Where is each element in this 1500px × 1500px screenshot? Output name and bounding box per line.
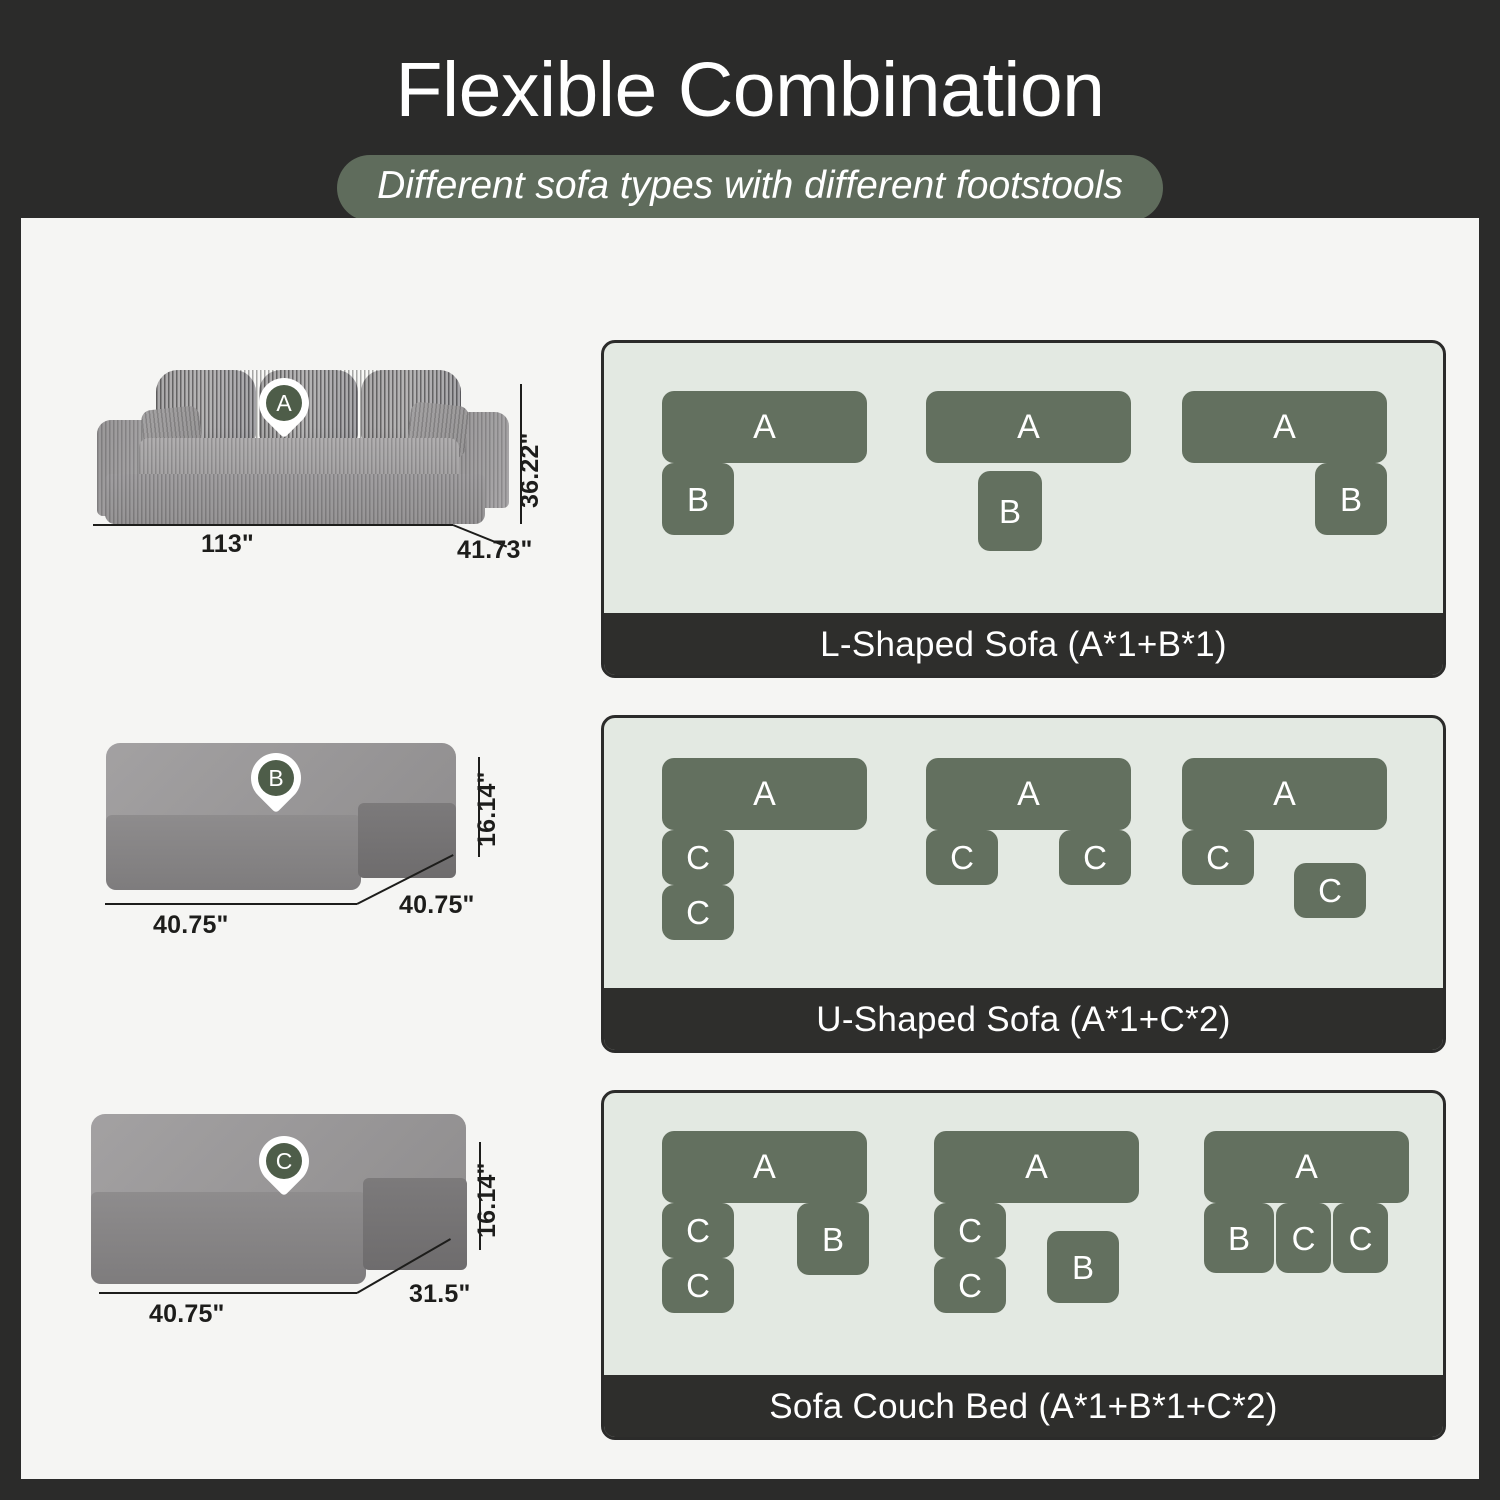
module-block-c: C (1294, 863, 1366, 918)
dim-depth-c: 31.5" (409, 1280, 471, 1309)
module-block-b: B (662, 463, 734, 535)
dim-height-a: 36.22" (516, 432, 545, 508)
module-block-b: B (1315, 463, 1387, 535)
header: Flexible Combination Different sofa type… (0, 0, 1500, 218)
product-row-a: A 113" 41.73" 36.22" ABABAB L-Shaped Sof… (21, 340, 1479, 678)
ottoman-front (91, 1192, 366, 1284)
module-block-c: C (934, 1203, 1006, 1258)
module-block-a: A (926, 391, 1131, 463)
marker-pin-c: C (259, 1136, 309, 1200)
panel-caption-2: Sofa Couch Bed (A*1+B*1+C*2) (603, 1375, 1444, 1438)
product-stage-b: B 40.75" 40.75" 16.14" (61, 725, 531, 955)
panel-canvas-0: ABABAB (604, 343, 1443, 613)
module-block-a: A (1182, 758, 1387, 830)
pin-label: C (266, 1143, 302, 1179)
ottoman-side (358, 803, 456, 878)
dim-height-b: 16.14" (473, 771, 502, 847)
combination-panel-u-shaped: ACCACCACC U-Shaped Sofa (A*1+C*2) (601, 715, 1446, 1053)
panel-canvas-2: ACCBACCBABCC (604, 1093, 1443, 1375)
dim-width-b: 40.75" (153, 911, 229, 940)
module-block-c: C (662, 830, 734, 885)
dim-line-width-a (93, 524, 453, 526)
module-block-c: C (926, 830, 998, 885)
dim-depth-a: 41.73" (457, 536, 533, 565)
panel-caption-0: L-Shaped Sofa (A*1+B*1) (603, 613, 1444, 676)
page-title: Flexible Combination (395, 52, 1104, 129)
dim-depth-b: 40.75" (399, 891, 475, 920)
product-figure-b: B 40.75" 40.75" 16.14" (21, 715, 601, 1053)
marker-pin-b: B (251, 753, 301, 817)
ottoman-front (106, 815, 361, 890)
product-row-c: C 40.75" 31.5" 16.14" ACCBACCBABCC Sofa … (21, 1090, 1479, 1440)
pin-label: B (258, 760, 294, 796)
module-block-a: A (662, 758, 867, 830)
module-block-c: C (662, 1258, 734, 1313)
module-block-b: B (1047, 1231, 1119, 1303)
module-block-b: B (797, 1203, 869, 1275)
module-block-c: C (662, 1203, 734, 1258)
module-block-a: A (1204, 1131, 1409, 1203)
ottoman-side (363, 1178, 467, 1270)
panel-canvas-1: ACCACCACC (604, 718, 1443, 988)
infographic-root: Flexible Combination Different sofa type… (0, 0, 1500, 1500)
module-block-c: C (934, 1258, 1006, 1313)
module-block-c: C (662, 885, 734, 940)
combination-panel-sofa-couch-bed: ACCBACCBABCC Sofa Couch Bed (A*1+B*1+C*2… (601, 1090, 1446, 1440)
product-figure-a: A 113" 41.73" 36.22" (21, 340, 601, 678)
module-block-c: C (1059, 830, 1131, 885)
module-block-c: C (1333, 1203, 1388, 1273)
module-block-c: C (1182, 830, 1254, 885)
combination-panel-l-shaped: ABABAB L-Shaped Sofa (A*1+B*1) (601, 340, 1446, 678)
product-row-b: B 40.75" 40.75" 16.14" ACCACCACC U-Shape… (21, 715, 1479, 1053)
module-block-a: A (1182, 391, 1387, 463)
module-block-b: B (1204, 1203, 1274, 1273)
product-stage-c: C 40.75" 31.5" 16.14" (61, 1100, 531, 1330)
module-block-c: C (1276, 1203, 1331, 1273)
module-block-a: A (934, 1131, 1139, 1203)
dim-width-c: 40.75" (149, 1300, 225, 1329)
content-card: A 113" 41.73" 36.22" ABABAB L-Shaped Sof… (21, 218, 1479, 1479)
product-figure-c: C 40.75" 31.5" 16.14" (21, 1090, 601, 1440)
dim-line-width-c (99, 1292, 357, 1294)
module-block-b: B (978, 471, 1042, 551)
dim-width-a: 113" (201, 530, 254, 559)
subtitle-badge: Different sofa types with different foot… (337, 155, 1163, 221)
marker-pin-a: A (259, 378, 309, 442)
module-block-a: A (662, 391, 867, 463)
dim-line-width-b (105, 903, 357, 905)
panel-caption-1: U-Shaped Sofa (A*1+C*2) (603, 988, 1444, 1051)
module-block-a: A (926, 758, 1131, 830)
sofa-base (105, 474, 485, 524)
pin-label: A (266, 385, 302, 421)
module-block-a: A (662, 1131, 867, 1203)
dim-height-c: 16.14" (473, 1162, 502, 1238)
product-stage-a: A 113" 41.73" 36.22" (61, 350, 531, 580)
